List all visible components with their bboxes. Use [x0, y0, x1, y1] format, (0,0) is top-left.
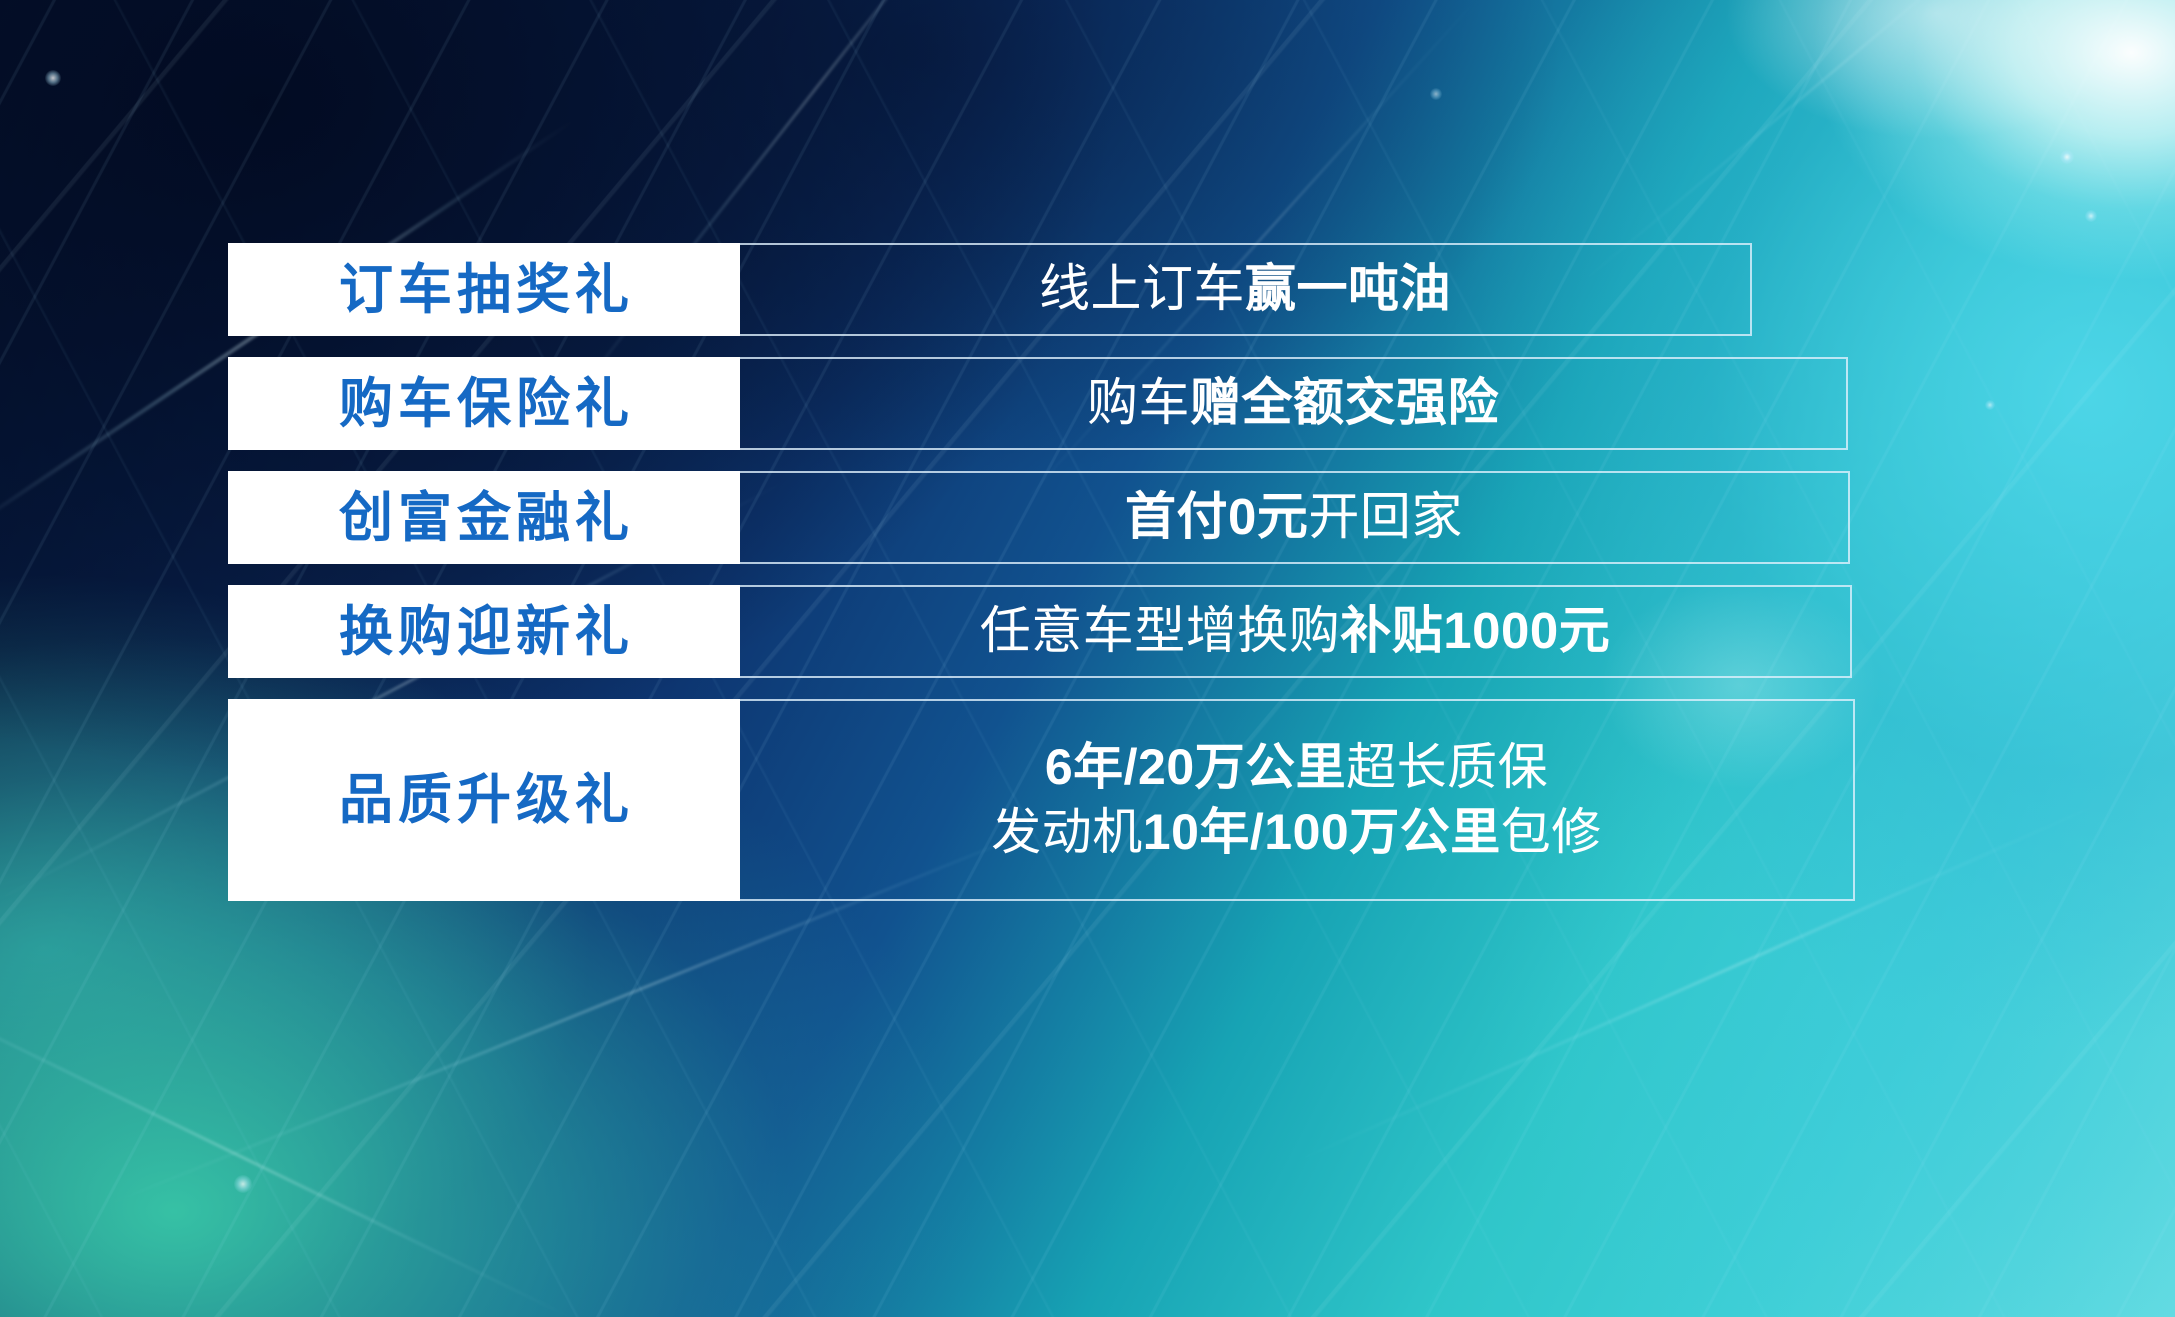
promo-description: 任意车型增换购补贴1000元 — [740, 585, 1852, 678]
promo-tag-label: 品质升级礼 — [228, 699, 740, 901]
promo-description-line: 首付0元开回家 — [754, 487, 1834, 547]
promo-description-line: 线上订车赢一吨油 — [754, 259, 1736, 319]
promo-row: 购车保险礼 购车赠全额交强险 — [228, 357, 1868, 450]
promo-description: 首付0元开回家 — [740, 471, 1850, 564]
promo-description-line: 任意车型增换购补贴1000元 — [754, 601, 1836, 661]
promo-description-line: 发动机10年/100万公里包修 — [754, 800, 1839, 865]
promo-text-segment: 开回家 — [1308, 488, 1463, 545]
promo-row: 品质升级礼 6年/20万公里超长质保 发动机10年/100万公里包修 — [228, 699, 1868, 901]
promo-description: 购车赠全额交强险 — [740, 357, 1848, 450]
promo-text-segment: 包修 — [1501, 804, 1602, 860]
promo-row: 换购迎新礼 任意车型增换购补贴1000元 — [228, 585, 1868, 678]
promo-description-line: 购车赠全额交强险 — [754, 373, 1832, 433]
promo-tag-label: 购车保险礼 — [228, 357, 740, 450]
promo-text-segment-highlight: 赢一吨油 — [1245, 260, 1451, 317]
promo-description-line: 6年/20万公里超长质保 — [754, 735, 1839, 800]
promo-row: 订车抽奖礼 线上订车赢一吨油 — [228, 243, 1868, 336]
promo-text-segment-highlight: 10年/100万公里 — [1143, 804, 1501, 860]
promo-text-segment: 线上订车 — [1039, 260, 1245, 317]
promo-tag-label: 创富金融礼 — [228, 471, 740, 564]
promo-text-segment-highlight: 补贴1000元 — [1340, 602, 1610, 659]
promo-text-segment: 发动机 — [991, 804, 1143, 860]
promo-description: 6年/20万公里超长质保 发动机10年/100万公里包修 — [740, 699, 1855, 901]
promo-description: 线上订车赢一吨油 — [740, 243, 1752, 336]
promo-row: 创富金融礼 首付0元开回家 — [228, 471, 1868, 564]
promo-text-segment-highlight: 首付0元 — [1125, 488, 1308, 545]
promo-text-segment: 任意车型增换购 — [980, 602, 1341, 659]
promo-tag-label: 订车抽奖礼 — [228, 243, 740, 336]
promo-text-segment: 超长质保 — [1346, 739, 1548, 795]
promo-text-segment-highlight: 赠全额交强险 — [1190, 374, 1499, 431]
promo-tag-label: 换购迎新礼 — [228, 585, 740, 678]
promo-banner: 订车抽奖礼 线上订车赢一吨油 购车保险礼 购车赠全额交强险 创富金融 — [0, 0, 2175, 1317]
promo-row-list: 订车抽奖礼 线上订车赢一吨油 购车保险礼 购车赠全额交强险 创富金融 — [228, 243, 1868, 901]
promo-text-segment: 购车 — [1087, 374, 1190, 431]
promo-text-segment-highlight: 6年/20万公里 — [1045, 739, 1346, 795]
